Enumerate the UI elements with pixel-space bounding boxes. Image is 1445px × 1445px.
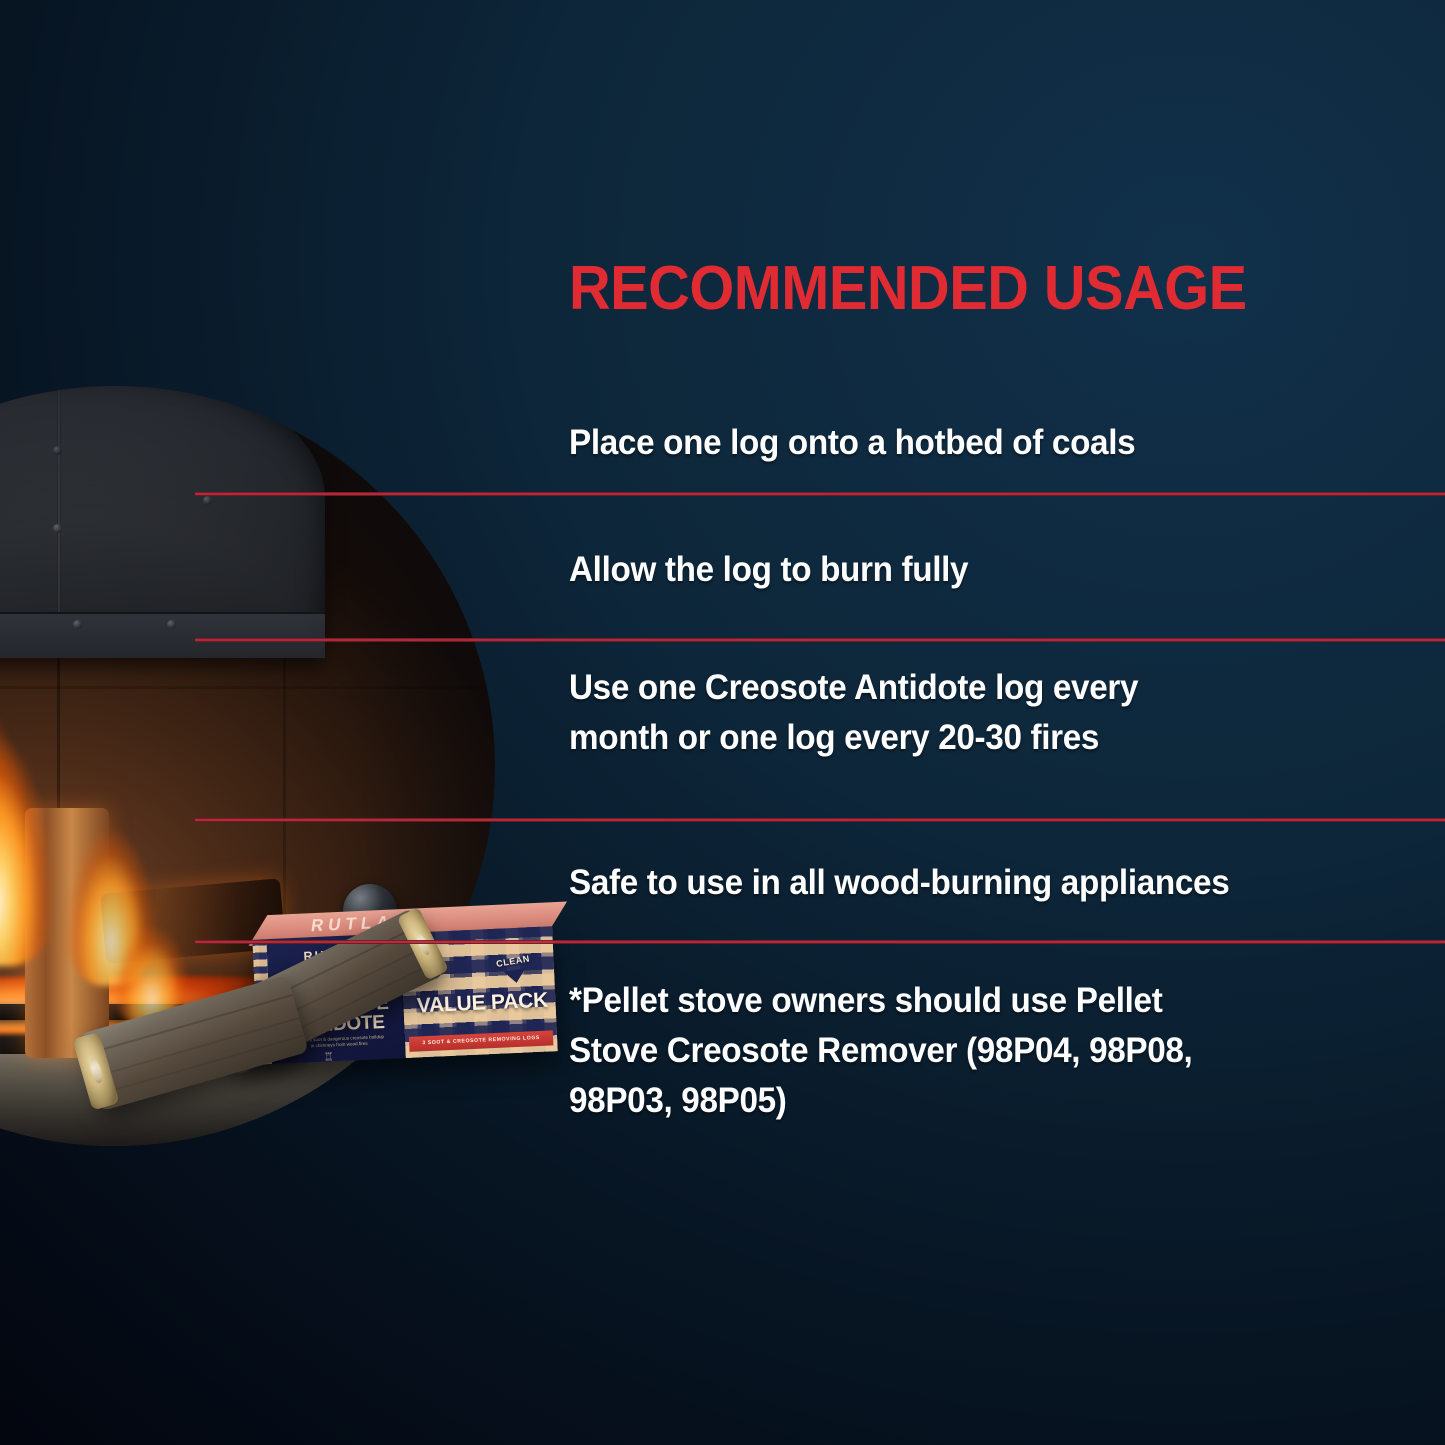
- usage-item-1: Place one log onto a hotbed of coals: [569, 418, 1135, 468]
- rivet-icon: [73, 620, 82, 629]
- firebox-seam: [0, 686, 495, 689]
- rivet-icon: [53, 446, 62, 455]
- hood-seam: [57, 386, 61, 612]
- usage-panel: RECOMMENDED USAGE Place one log onto a h…: [569, 258, 1445, 1445]
- usage-item-3: Use one Creosote Antidote log every mont…: [569, 663, 1138, 763]
- usage-item-4: Safe to use in all wood-burning applianc…: [569, 858, 1229, 908]
- page-title: RECOMMENDED USAGE: [569, 258, 1247, 320]
- seal-triangle-icon: [504, 968, 528, 984]
- usage-item-5: *Pellet stove owners should use Pellet S…: [569, 976, 1192, 1126]
- leaf-icon: ♖: [323, 1050, 333, 1063]
- rivet-icon: [53, 524, 62, 533]
- firelog-center-hole: [88, 1058, 104, 1085]
- rivet-icon: [167, 620, 176, 629]
- promo-graphic: RUTLAND RUTLAND TRUSTED SINCE 1883 2 TRE…: [0, 0, 1445, 1445]
- hood-band: [0, 612, 325, 658]
- rivet-icon: [203, 496, 212, 505]
- clean-seal-label: CLEAN: [495, 953, 530, 969]
- value-pack-label: VALUE PACK: [409, 988, 556, 1019]
- usage-item-2: Allow the log to burn fully: [569, 545, 968, 595]
- firelog: [79, 975, 309, 1111]
- iron-hood: [0, 386, 325, 658]
- value-pack-band: 3 SOOT & CREOSOTE REMOVING LOGS: [409, 1030, 554, 1052]
- product-photo: RUTLAND RUTLAND TRUSTED SINCE 1883 2 TRE…: [80, 925, 560, 1190]
